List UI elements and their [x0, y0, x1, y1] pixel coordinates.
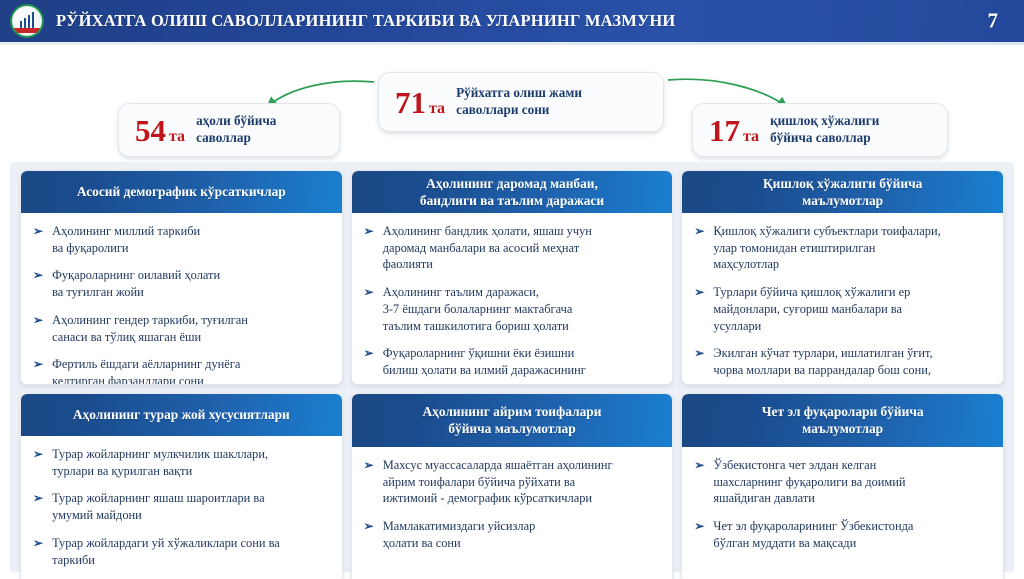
statistics-agency-logo-icon	[10, 4, 44, 38]
topic-card: Чет эл фуқаролари бўйича маълумотлар➢Ўзб…	[681, 393, 1004, 579]
slide-root: РЎЙХАТГА ОЛИШ САВОЛЛАРИНИНГ ТАРКИБИ ВА У…	[0, 0, 1024, 579]
arrow-bullet-icon: ➢	[33, 312, 43, 345]
topic-card-title: Аҳолининг турар жой хусусиятлари	[21, 394, 342, 436]
arrow-bullet-icon: ➢	[33, 535, 43, 568]
callout-left-label: аҳоли бўйича саволлар	[196, 113, 276, 147]
callout-total-questions[interactable]: 71та Рўйхатга олиш жами саволлари сони	[378, 72, 664, 132]
list-item-text: Турар жойлардаги уй хўжаликлари сони ва …	[52, 535, 280, 568]
list-item-text: Аҳолининг миллий таркиби ва фуқаролиги	[52, 223, 200, 256]
callout-agriculture-questions[interactable]: 17та қишлоқ хўжалиги бўйича саволлар	[692, 103, 948, 157]
list-item-text: Турар жойларнинг яшаш шароитлари ва умум…	[52, 490, 265, 523]
callout-center-label: Рўйхатга олиш жами саволлари сони	[456, 85, 582, 119]
page-number: 7	[988, 9, 999, 34]
list-item-text: Фертиль ёшдаги аёлларнинг дунёга келтирг…	[52, 356, 240, 385]
topic-card-title: Аҳолининг даромад манбаи, бандлиги ва та…	[352, 171, 673, 213]
callout-right-label: қишлоқ хўжалиги бўйича саволлар	[770, 113, 879, 147]
list-item: ➢Турар жойларнинг мулкчилик шакллари, ту…	[33, 446, 332, 479]
list-item-text: Аҳолининг таълим даражаси, 3-7 ёшдаги бо…	[383, 284, 573, 334]
list-item-text: Ўзбекистонга чет элдан келган шахсларнин…	[713, 457, 905, 507]
list-item: ➢Аҳолининг гендер таркиби, туғилган сана…	[33, 312, 332, 345]
arrow-bullet-icon: ➢	[33, 267, 43, 300]
topic-card-body: ➢Қишлоқ хўжалиги субъектлари тоифалари, …	[682, 213, 1003, 385]
list-item: ➢Мамлакатимиздаги уйсизлар ҳолати ва сон…	[364, 518, 663, 551]
list-item: ➢Махсус муассасаларда яшаётган аҳолининг…	[364, 457, 663, 507]
list-item-text: Турлари бўйича қишлоқ хўжалиги ер майдон…	[713, 284, 910, 334]
list-item-text: Фуқароларнинг оилавий ҳолати ва туғилган…	[52, 267, 220, 300]
callout-center-number: 71та	[395, 87, 445, 118]
topic-card-body: ➢Турар жойларнинг мулкчилик шакллари, ту…	[21, 436, 342, 579]
list-item: ➢Аҳолининг миллий таркиби ва фуқаролиги	[33, 223, 332, 256]
arrow-bullet-icon: ➢	[694, 518, 704, 551]
topic-cards-grid: Асосий демографик кўрсаткичлар➢Аҳолининг…	[10, 162, 1014, 572]
arrow-bullet-icon: ➢	[694, 223, 704, 273]
callout-left-number: 54та	[135, 115, 185, 146]
list-item-text: Чет эл фуқароларининг Ўзбекистонда бўлга…	[713, 518, 913, 551]
list-item-text: Турар жойларнинг мулкчилик шакллари, тур…	[52, 446, 268, 479]
list-item: ➢Экилган кўчат турлари, ишлатилган ўғит,…	[694, 345, 993, 385]
list-item: ➢Ўзбекистонга чет элдан келган шахсларни…	[694, 457, 993, 507]
list-item: ➢Қишлоқ хўжалиги субъектлари тоифалари, …	[694, 223, 993, 273]
list-item: ➢Фуқароларнинг оилавий ҳолати ва туғилга…	[33, 267, 332, 300]
callout-right-number: 17та	[709, 115, 759, 146]
list-item-text: Махсус муассасаларда яшаётган аҳолининг …	[383, 457, 613, 507]
list-item: ➢Аҳолининг таълим даражаси, 3-7 ёшдаги б…	[364, 284, 663, 334]
arrow-bullet-icon: ➢	[694, 457, 704, 507]
arrow-bullet-icon: ➢	[33, 356, 43, 385]
topic-card: Аҳолининг даромад манбаи, бандлиги ва та…	[351, 170, 674, 385]
list-item: ➢Турлари бўйича қишлоқ хўжалиги ер майдо…	[694, 284, 993, 334]
topic-card-body: ➢Ўзбекистонга чет элдан келган шахсларни…	[682, 447, 1003, 579]
arrow-bullet-icon: ➢	[33, 223, 43, 256]
list-item: ➢Чет эл фуқароларининг Ўзбекистонда бўлг…	[694, 518, 993, 551]
topic-card-title: Қишлоқ хўжалиги бўйича маълумотлар	[682, 171, 1003, 213]
arrow-bullet-icon: ➢	[33, 490, 43, 523]
list-item-text: Экилган кўчат турлари, ишлатилган ўғит, …	[713, 345, 932, 385]
arrow-bullet-icon: ➢	[694, 345, 704, 385]
topic-card: Аҳолининг турар жой хусусиятлари➢Турар ж…	[20, 393, 343, 579]
arrow-bullet-icon: ➢	[364, 223, 374, 273]
list-item-text: Аҳолининг гендер таркиби, туғилган санас…	[52, 312, 248, 345]
topic-card-body: ➢Махсус муассасаларда яшаётган аҳолининг…	[352, 447, 673, 579]
arrow-bullet-icon: ➢	[364, 345, 374, 385]
list-item-text: Аҳолининг бандлик ҳолати, яшаш учун даро…	[383, 223, 592, 273]
list-item: ➢Аҳолининг бандлик ҳолати, яшаш учун дар…	[364, 223, 663, 273]
arrow-bullet-icon: ➢	[364, 518, 374, 551]
callout-population-questions[interactable]: 54та аҳоли бўйича саволлар	[118, 103, 340, 157]
arrow-bullet-icon: ➢	[364, 284, 374, 334]
list-item-text: Мамлакатимиздаги уйсизлар ҳолати ва сони	[383, 518, 536, 551]
slide-header-banner: РЎЙХАТГА ОЛИШ САВОЛЛАРИНИНГ ТАРКИБИ ВА У…	[0, 0, 1024, 42]
list-item-text: Қишлоқ хўжалиги субъектлари тоифалари, у…	[713, 223, 940, 273]
arrow-bullet-icon: ➢	[364, 457, 374, 507]
topic-card-title: Асосий демографик кўрсаткичлар	[21, 171, 342, 213]
topic-card: Асосий демографик кўрсаткичлар➢Аҳолининг…	[20, 170, 343, 385]
list-item: ➢Турар жойлардаги уй хўжаликлари сони ва…	[33, 535, 332, 568]
list-item: ➢Фертиль ёшдаги аёлларнинг дунёга келтир…	[33, 356, 332, 385]
topic-card: Қишлоқ хўжалиги бўйича маълумотлар➢Қишло…	[681, 170, 1004, 385]
arrow-bullet-icon: ➢	[694, 284, 704, 334]
topic-card-body: ➢Аҳолининг бандлик ҳолати, яшаш учун дар…	[352, 213, 673, 385]
topic-card-title: Чет эл фуқаролари бўйича маълумотлар	[682, 394, 1003, 447]
page-title: РЎЙХАТГА ОЛИШ САВОЛЛАРИНИНГ ТАРКИБИ ВА У…	[56, 11, 675, 31]
topic-card-title: Аҳолининг айрим тоифалари бўйича маълумо…	[352, 394, 673, 447]
list-item-text: Фуқароларнинг ўқишни ёки ёзишни билиш ҳо…	[383, 345, 586, 385]
topic-card: Аҳолининг айрим тоифалари бўйича маълумо…	[351, 393, 674, 579]
arrow-bullet-icon: ➢	[33, 446, 43, 479]
list-item: ➢Фуқароларнинг ўқишни ёки ёзишни билиш ҳ…	[364, 345, 663, 385]
topic-card-body: ➢Аҳолининг миллий таркиби ва фуқаролиги➢…	[21, 213, 342, 385]
list-item: ➢Турар жойларнинг яшаш шароитлари ва уму…	[33, 490, 332, 523]
